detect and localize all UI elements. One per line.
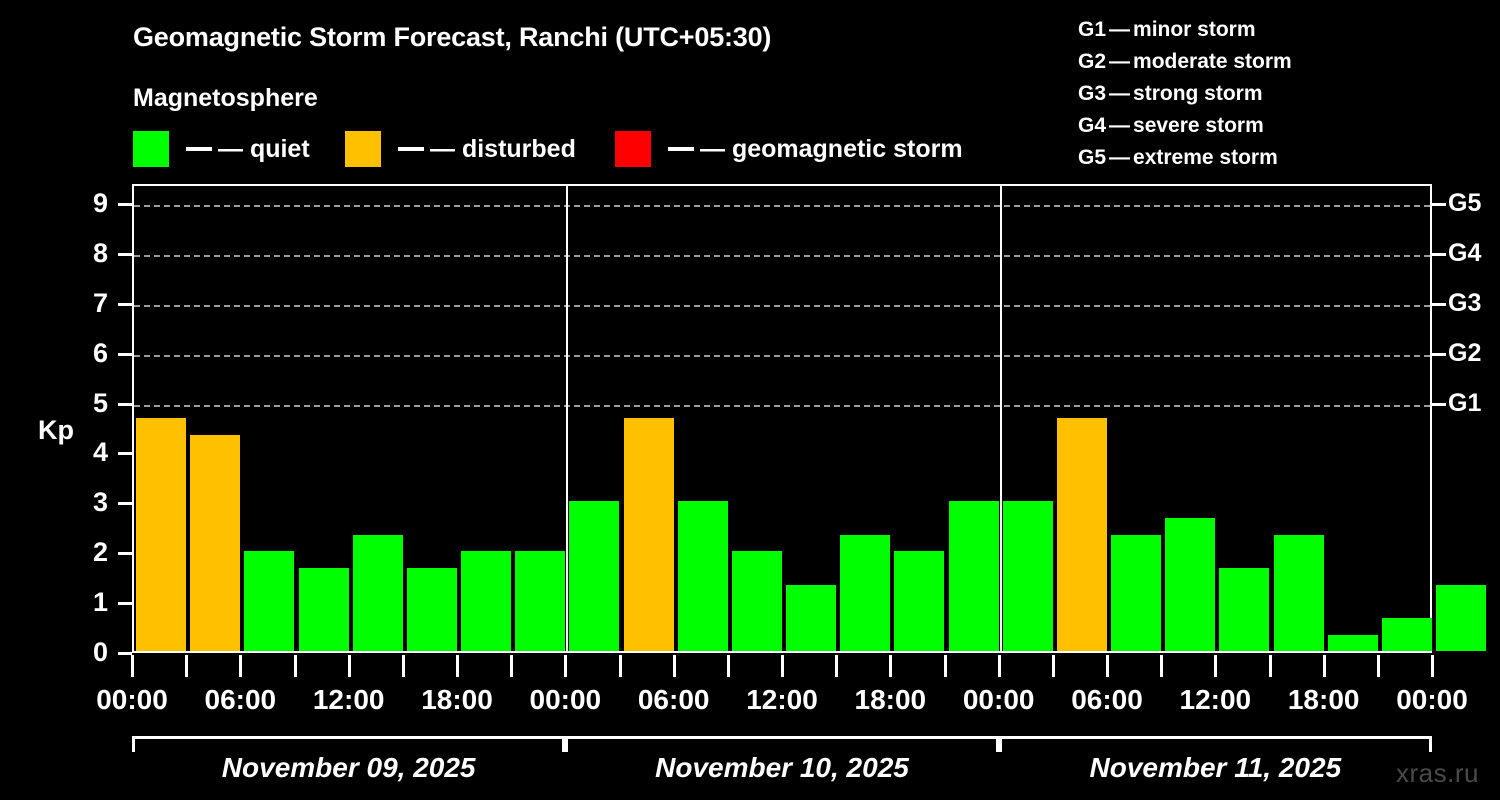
bar-partial (1436, 585, 1486, 651)
legend-dash-icon (398, 147, 424, 151)
x-axis-tick (510, 655, 513, 677)
g-axis-label-g3: G3 (1448, 291, 1481, 316)
x-axis-label: 00:00 (96, 684, 168, 716)
x-axis-tick (619, 655, 622, 677)
g-legend-code: G3 (1078, 78, 1106, 110)
bar (569, 501, 619, 651)
bar (353, 535, 403, 651)
x-axis-tick (1431, 655, 1434, 677)
bar (1111, 535, 1161, 651)
x-axis-tick (889, 655, 892, 677)
g-legend-code: G5 (1078, 142, 1106, 174)
plot-inner (134, 186, 1430, 651)
legend-label-quiet: — quiet (218, 135, 310, 164)
x-axis-tick (239, 655, 242, 677)
day-bracket (999, 736, 1432, 752)
g-legend-row-g2: G2 — moderate storm (1078, 46, 1292, 78)
gridline (134, 255, 1430, 257)
y-axis-label: 0 (68, 639, 108, 666)
g-axis-tick (1432, 303, 1446, 306)
bar (1382, 618, 1432, 651)
x-axis-label: 00:00 (963, 684, 1035, 716)
bar (407, 568, 457, 651)
bar (1165, 518, 1215, 651)
bar (190, 435, 240, 651)
bar (136, 418, 186, 651)
y-axis-label: 6 (68, 340, 108, 367)
g-legend-row-g3: G3 — strong storm (1078, 78, 1292, 110)
gridline (134, 305, 1430, 307)
day-label: November 09, 2025 (222, 752, 476, 784)
y-axis-tick (118, 552, 132, 555)
y-axis-label: 4 (68, 439, 108, 466)
bar (949, 501, 999, 651)
bar (1219, 568, 1269, 651)
x-axis-label: 00:00 (530, 684, 602, 716)
g-axis-tick (1432, 353, 1446, 356)
y-axis-label: 8 (68, 240, 108, 267)
x-axis-tick (1269, 655, 1272, 677)
x-axis-tick (998, 655, 1001, 677)
g-legend-separator: — (1106, 78, 1133, 110)
y-axis-tick (118, 602, 132, 605)
bar (732, 551, 782, 651)
geomagnetic-forecast-chart: Geomagnetic Storm Forecast, Ranchi (UTC+… (0, 0, 1500, 800)
x-axis-label: 18:00 (855, 684, 927, 716)
gridline (134, 205, 1430, 207)
y-axis-label: 9 (68, 190, 108, 217)
x-axis-label: 12:00 (746, 684, 818, 716)
g-axis-tick (1432, 403, 1446, 406)
legend-dash-icon (668, 147, 694, 151)
x-axis-tick (1160, 655, 1163, 677)
day-divider (566, 186, 568, 651)
x-axis-tick (402, 655, 405, 677)
legend-label-disturbed: — disturbed (430, 135, 576, 164)
g-legend-text: minor storm (1133, 18, 1256, 41)
x-axis-tick (944, 655, 947, 677)
x-axis-label: 18:00 (421, 684, 493, 716)
x-axis-label: 00:00 (1396, 684, 1468, 716)
bar (299, 568, 349, 651)
g-axis-label-g5: G5 (1448, 191, 1481, 216)
y-axis-tick (118, 203, 132, 206)
page-title: Geomagnetic Storm Forecast, Ranchi (UTC+… (133, 22, 771, 53)
g-legend-code: G1 (1078, 14, 1106, 46)
bar (624, 418, 674, 651)
bar (244, 551, 294, 651)
g-legend-text: moderate storm (1133, 50, 1292, 73)
y-axis-tick (118, 353, 132, 356)
y-axis-tick (118, 253, 132, 256)
g-axis-label-g4: G4 (1448, 241, 1481, 266)
bar (894, 551, 944, 651)
x-axis-label: 06:00 (1071, 684, 1143, 716)
g-legend-separator: — (1106, 142, 1133, 174)
g-legend-row-g1: G1 — minor storm (1078, 14, 1292, 46)
g-legend-separator: — (1106, 110, 1133, 142)
plot-area (132, 184, 1432, 653)
day-bracket (565, 736, 998, 752)
x-axis-tick (835, 655, 838, 677)
g-legend-code: G4 (1078, 110, 1106, 142)
x-axis-tick (1214, 655, 1217, 677)
legend-label-storm: — geomagnetic storm (700, 135, 963, 164)
g-legend-separator: — (1106, 46, 1133, 78)
legend-item-geomagnetic-storm: — geomagnetic storm (615, 131, 963, 167)
x-axis-label: 12:00 (1180, 684, 1252, 716)
bar (840, 535, 890, 651)
gridline (134, 355, 1430, 357)
x-axis-tick (673, 655, 676, 677)
chart-subtitle: Magnetosphere (133, 84, 318, 113)
x-axis-tick (348, 655, 351, 677)
y-axis-label: 2 (68, 539, 108, 566)
x-axis-tick (185, 655, 188, 677)
x-axis-tick (294, 655, 297, 677)
g-legend-text: extreme storm (1133, 146, 1278, 169)
gridline (134, 405, 1430, 407)
bar (786, 585, 836, 651)
legend-item-disturbed: — disturbed (345, 131, 576, 167)
x-axis-tick (564, 655, 567, 677)
g-legend-row-g5: G5 — extreme storm (1078, 142, 1292, 174)
y-axis-label: 7 (68, 290, 108, 317)
g-legend-text: strong storm (1133, 82, 1263, 105)
legend-swatch-quiet (133, 131, 169, 167)
x-axis-tick (1323, 655, 1326, 677)
g-scale-legend: G1 — minor stormG2 — moderate stormG3 — … (1078, 14, 1292, 174)
day-divider (1000, 186, 1002, 651)
bar (515, 551, 565, 651)
y-axis-label: 1 (68, 589, 108, 616)
y-axis-tick (118, 403, 132, 406)
y-axis-label: 5 (68, 390, 108, 417)
g-axis-label-g1: G1 (1448, 391, 1481, 416)
day-label: November 11, 2025 (1090, 752, 1342, 784)
y-axis-tick (118, 452, 132, 455)
g-axis-tick (1432, 203, 1446, 206)
x-axis-label: 12:00 (313, 684, 385, 716)
bar (1057, 418, 1107, 651)
legend-swatch-disturbed (345, 131, 381, 167)
legend-swatch-storm (615, 131, 651, 167)
y-axis-tick (118, 502, 132, 505)
legend-item-quiet: — quiet (133, 131, 310, 167)
x-axis-label: 18:00 (1288, 684, 1360, 716)
g-axis-label-g2: G2 (1448, 341, 1481, 366)
g-legend-text: severe storm (1133, 114, 1264, 137)
x-axis-tick (1052, 655, 1055, 677)
x-axis-tick (781, 655, 784, 677)
bar (1003, 501, 1053, 651)
x-axis-tick (1106, 655, 1109, 677)
x-axis-label: 06:00 (638, 684, 710, 716)
x-axis-tick (131, 655, 134, 677)
x-axis-tick (727, 655, 730, 677)
x-axis-tick (456, 655, 459, 677)
x-axis-label: 06:00 (205, 684, 277, 716)
legend-dash-icon (186, 147, 212, 151)
day-label: November 10, 2025 (655, 752, 909, 784)
g-legend-separator: — (1106, 14, 1133, 46)
g-legend-row-g4: G4 — severe storm (1078, 110, 1292, 142)
y-axis-tick (118, 652, 132, 655)
day-bracket (132, 736, 565, 752)
bar (461, 551, 511, 651)
y-axis-tick (118, 303, 132, 306)
bar (1328, 635, 1378, 651)
watermark: xras.ru (1396, 758, 1479, 789)
y-axis-label: 3 (68, 489, 108, 516)
x-axis-tick (1377, 655, 1380, 677)
g-axis-tick (1432, 253, 1446, 256)
bar (1274, 535, 1324, 651)
bar (678, 501, 728, 651)
g-legend-code: G2 (1078, 46, 1106, 78)
